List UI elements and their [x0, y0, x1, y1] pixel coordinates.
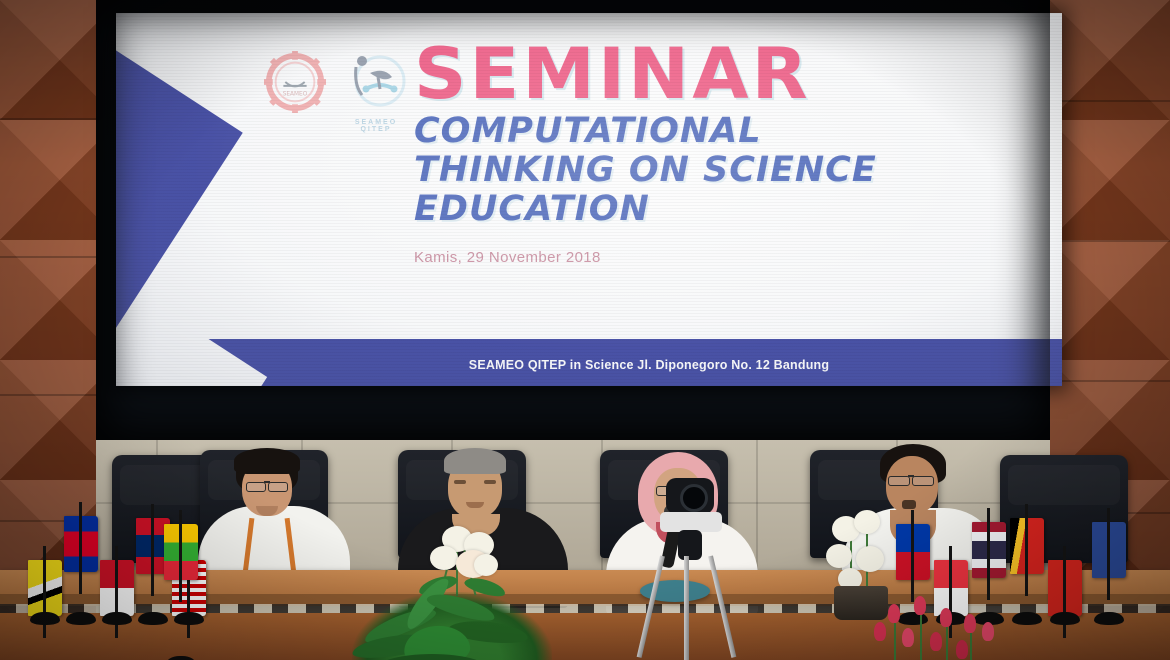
tripod-leg — [684, 556, 689, 660]
slide-subtitle-line-3: EDUCATION — [414, 190, 877, 229]
slide-subtitle-line-2: THINKING ON SCIENCE — [414, 151, 877, 190]
white-flower-pot-right — [818, 500, 904, 610]
slide-venue: SEAMEO QITEP in Science Jl. Diponegoro N… — [116, 358, 1062, 372]
cambodia-flag — [64, 516, 98, 616]
slide-logos: SEAMEO SEAMEO QITEP — [264, 51, 412, 131]
seameo-gear-icon: SEAMEO — [264, 51, 326, 113]
myanmar-flag — [164, 524, 198, 660]
timor-leste-flag — [1010, 518, 1044, 616]
white-flower-arrangement — [412, 506, 508, 602]
potted-fern-plant — [352, 592, 552, 660]
seminar-room-photo: SEAMEO SEAMEO QITEP SEMINAR — [0, 0, 1170, 660]
seameo-qitep-logo-icon: SEAMEO QITEP — [340, 51, 412, 131]
brunei-flag — [28, 560, 62, 616]
vietnam-flag — [1048, 560, 1082, 616]
slide-subtitle-line-1: COMPUTATIONAL — [414, 112, 877, 151]
slide-date: Kamis, 29 November 2018 — [414, 249, 877, 266]
asean-flag — [1092, 522, 1126, 616]
svg-text:SEAMEO: SEAMEO — [283, 92, 308, 98]
slide-subtitle: COMPUTATIONAL THINKING ON SCIENCE EDUCAT… — [414, 112, 877, 230]
red-flower-arrangement — [862, 596, 1012, 660]
qitep-logo-caption: SEAMEO QITEP — [340, 119, 412, 133]
slide-text-block: SEMINAR COMPUTATIONAL THINKING ON SCIENC… — [414, 41, 877, 266]
slide-title: SEMINAR — [414, 41, 895, 108]
indonesia-flag — [100, 560, 134, 616]
